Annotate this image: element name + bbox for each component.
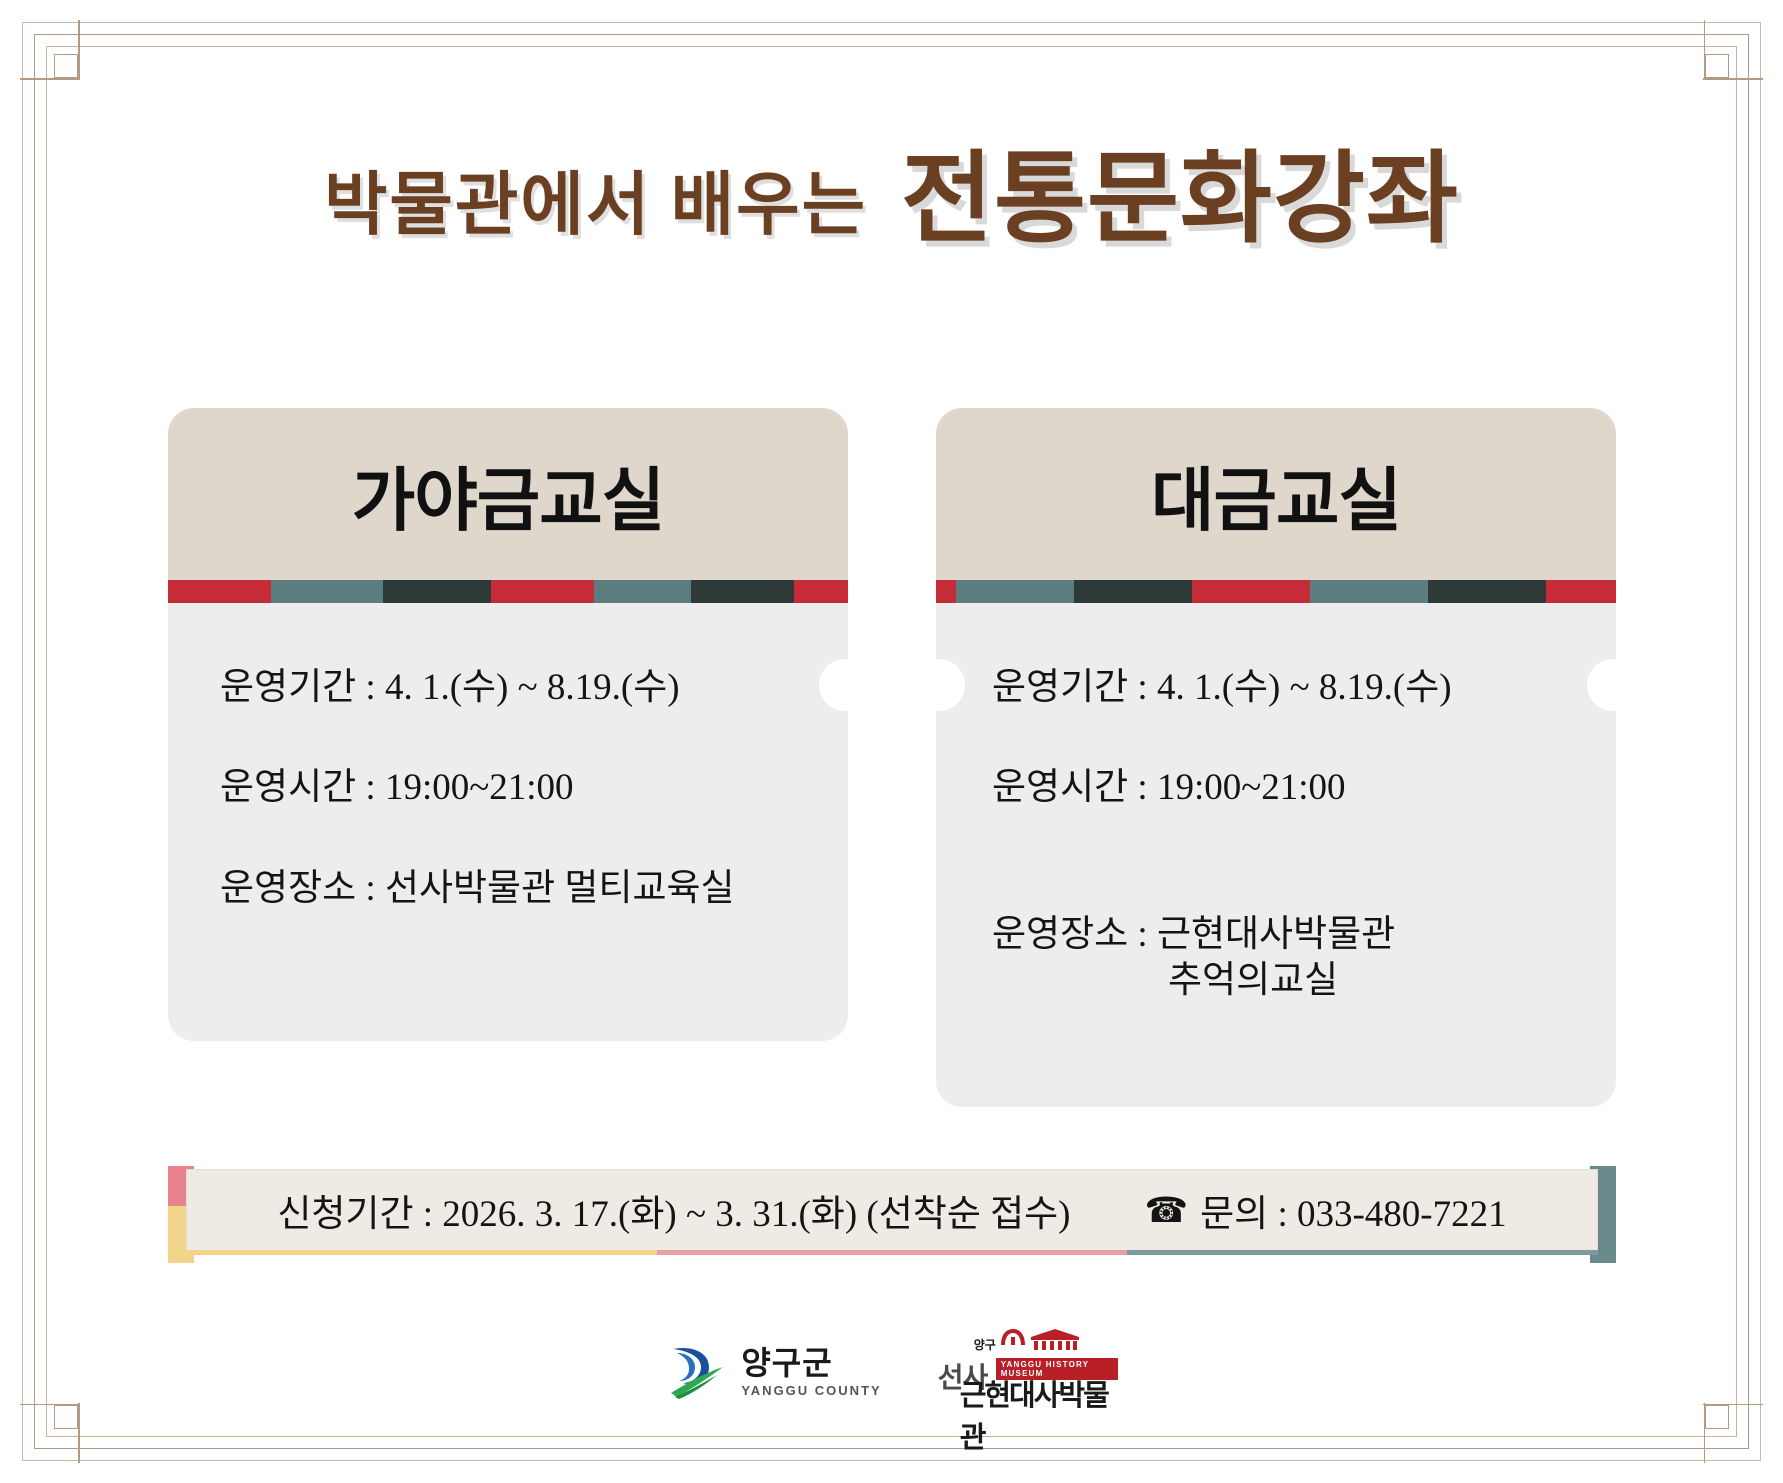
card-line-venue-first: 운영장소 : 근현대사박물관 (992, 914, 1395, 955)
museum-building-icons (1000, 1328, 1081, 1352)
museum-top-row: 양구 (974, 1336, 996, 1355)
banner-contact-text: 문의 : 033-480-7221 (1200, 1183, 1507, 1237)
banner-application-period: 신청기간 : 2026. 3. 17.(화) ~ 3. 31.(화) (선착순 … (277, 1183, 1070, 1237)
card-body-daegeum: 운영기간 : 4. 1.(수) ~ 8.19.(수) 운영시간 : 19:00~… (936, 603, 1616, 1107)
stripe-segment-dark (1074, 580, 1192, 603)
museum-temple-icon (1029, 1328, 1081, 1352)
frame-tick-bottom-right-v (1704, 1403, 1706, 1463)
card-header-gayageum: 가야금교실 (168, 408, 848, 580)
frame-corner-top-right (1705, 54, 1729, 78)
stripe-segment-teal (594, 580, 692, 603)
stripe-segment-red (1546, 580, 1616, 603)
card-line-venue: 운영장소 : 선사박물관 멀티교육실 (168, 866, 848, 912)
logo-yanggu-en: YANGGU COUNTY (741, 1384, 881, 1397)
application-banner: 신청기간 : 2026. 3. 17.(화) ~ 3. 31.(화) (선착순 … (168, 1166, 1616, 1263)
underline-teal (1127, 1250, 1598, 1255)
frame-tick-top-right-v (1704, 20, 1706, 80)
museum-kr-line2: 근현대사박물관 (960, 1372, 1118, 1456)
banner-underline (186, 1250, 1598, 1255)
logo-yanggu-text: 양구군 YANGGU COUNTY (741, 1347, 881, 1397)
card-title-gayageum: 가야금교실 (352, 444, 664, 544)
footer-logos: 양구군 YANGGU COUNTY 양구 YANGGU HISTOR (0, 1332, 1783, 1412)
card-line-period: 운영기간 : 4. 1.(수) ~ 8.19.(수) (168, 665, 848, 711)
logo-yanggu-history-museum: 양구 YANGGU HISTORY MUSEUM 선사 근현대사박물관 (938, 1332, 1118, 1412)
stripe-segment-teal (1310, 580, 1428, 603)
logo-yanggu-kr: 양구군 (741, 1347, 881, 1379)
frame-tick-bottom-left-v (78, 1403, 80, 1463)
phone-icon: ☎ (1145, 1193, 1189, 1228)
stripe-segment-red (1192, 580, 1310, 603)
frame-tick-top-left-h (20, 78, 80, 80)
banner-content: 신청기간 : 2026. 3. 17.(화) ~ 3. 31.(화) (선착순 … (186, 1169, 1598, 1251)
frame-tick-top-right-h (1703, 78, 1763, 80)
museum-arch-icon (1000, 1328, 1026, 1352)
logo-yanggu-county: 양구군 YANGGU COUNTY (665, 1343, 881, 1401)
title-subtext: 박물관에서 배우는 (324, 171, 867, 250)
card-line-period: 운영기간 : 4. 1.(수) ~ 8.19.(수) (936, 665, 1616, 711)
banner-contact: ☎ 문의 : 033-480-7221 (1145, 1183, 1507, 1237)
stripe-segment-red (936, 580, 956, 603)
color-stripe-gayageum (168, 580, 848, 603)
card-line-venue: 운영장소 : 근현대사박물관 추억의교실 (936, 866, 1616, 1051)
class-cards-container: 가야금교실 운영기간 : 4. 1.(수) ~ 8.19.(수) 운영시간 : … (168, 408, 1616, 1107)
card-line-venue-second: 추억의교실 (992, 958, 1616, 1004)
card-title-daegeum: 대금교실 (1151, 444, 1401, 544)
stripe-segment-red (491, 580, 594, 603)
stripe-segment-dark (1428, 580, 1546, 603)
stripe-segment-teal (271, 580, 384, 603)
yanggu-swoosh-icon (665, 1343, 727, 1401)
card-line-time: 운영시간 : 19:00~21:00 (168, 765, 848, 811)
underline-yellow (186, 1250, 657, 1255)
stripe-segment-red (168, 580, 271, 603)
poster-title: 박물관에서 배우는 전통문화강좌 (0, 150, 1783, 250)
stripe-segment-dark (691, 580, 794, 603)
frame-corner-top-left (54, 54, 78, 78)
card-line-time: 운영시간 : 19:00~21:00 (936, 765, 1616, 811)
card-header-daegeum: 대금교실 (936, 408, 1616, 580)
stripe-segment-teal (956, 580, 1074, 603)
museum-yanggu-kr: 양구 (974, 1336, 996, 1353)
color-stripe-daegeum (936, 580, 1616, 603)
class-card-gayageum: 가야금교실 운영기간 : 4. 1.(수) ~ 8.19.(수) 운영시간 : … (168, 408, 848, 1107)
card-body-gayageum: 운영기간 : 4. 1.(수) ~ 8.19.(수) 운영시간 : 19:00~… (168, 603, 848, 1041)
class-card-daegeum: 대금교실 운영기간 : 4. 1.(수) ~ 8.19.(수) 운영시간 : 1… (936, 408, 1616, 1107)
stripe-segment-red (794, 580, 848, 603)
title-maintext: 전통문화강좌 (901, 150, 1459, 250)
stripe-segment-dark (383, 580, 491, 603)
frame-tick-top-left-v (78, 20, 80, 80)
underline-pink (657, 1250, 1128, 1255)
